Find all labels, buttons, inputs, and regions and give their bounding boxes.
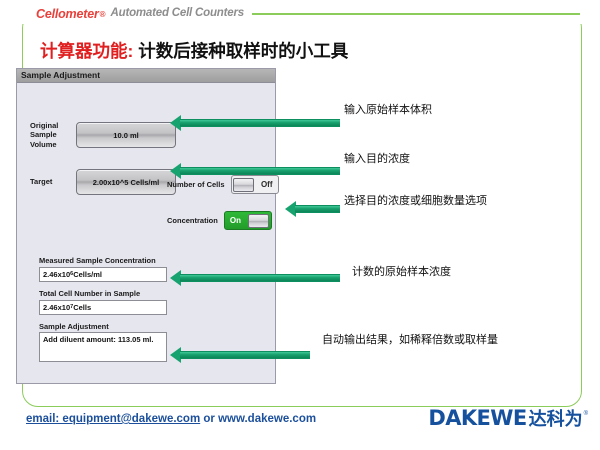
window-body: OriginalSampleVolume 10.0 ml Target 2.00… [17, 83, 275, 383]
original-sample-volume-row: OriginalSampleVolume 10.0 ml [30, 121, 176, 149]
number-of-cells-label: Number of Cells [167, 180, 225, 189]
callout-arrow-volume [170, 118, 340, 127]
number-of-cells-toggle[interactable]: Off [231, 175, 279, 194]
arrow-shaft [180, 274, 340, 282]
total-cell-number-unit: Cells [73, 303, 91, 312]
concentration-toggle-state: On [225, 217, 246, 225]
footer-separator: or [200, 413, 218, 425]
concentration-label: Concentration [167, 216, 218, 225]
logo-registered-trademark-icon: ® [584, 411, 588, 417]
measured-concentration-mantissa: 2.46x10 [43, 270, 70, 279]
arrow-shaft [180, 119, 340, 127]
measured-concentration-unit: Cells/ml [73, 270, 102, 279]
arrow-shaft [180, 351, 310, 359]
callout-arrow-measured [170, 273, 340, 282]
original-sample-volume-label: OriginalSampleVolume [30, 121, 76, 149]
number-of-cells-toggle-state: Off [256, 181, 278, 189]
target-row: Target 2.00x10^5 Cells/ml [30, 169, 176, 195]
measured-concentration-value: 2.46x106 Cells/ml [39, 267, 167, 282]
target-label: Target [30, 177, 76, 186]
page-title-rest: 计数后接种取样时的小工具 [138, 41, 348, 61]
sample-adjustment-window: Sample Adjustment OriginalSampleVolume 1… [16, 68, 276, 384]
header-divider-line [252, 13, 580, 15]
dakewe-logo: DAKEWE 达科为 ® [428, 408, 588, 429]
measured-concentration-label: Measured Sample Concentration [39, 257, 167, 265]
window-titlebar: Sample Adjustment [17, 69, 275, 83]
page-title-highlight: 计算器功能: [40, 41, 133, 61]
annotation-volume: 输入原始样本体积 [344, 103, 432, 118]
arrow-shaft [180, 167, 340, 175]
window-title: Sample Adjustment [21, 71, 100, 80]
arrow-shaft [295, 205, 340, 213]
toggle-knob-icon [248, 214, 269, 228]
number-of-cells-row: Number of Cells Off [167, 175, 279, 194]
sample-adjustment-result-value: Add diluent amount: 113.05 ml. [39, 332, 167, 362]
brand-tagline: Automated Cell Counters [111, 8, 244, 20]
callout-arrow-adjustment [170, 350, 310, 359]
footer-contact: email: equipment@dakewe.com or www.dakew… [26, 414, 316, 426]
annotation-measured: 计数的原始样本浓度 [352, 265, 451, 280]
original-sample-volume-button[interactable]: 10.0 ml [76, 122, 176, 148]
dakewe-logo-cjk: 达科为 [529, 410, 583, 428]
callout-arrow-concentration [285, 204, 340, 213]
toggle-knob-icon [233, 178, 254, 192]
target-value-button[interactable]: 2.00x10^5 Cells/ml [76, 169, 176, 195]
dakewe-logo-latin: DAKEWE [428, 408, 526, 429]
annotation-adjustment: 自动输出结果，如稀释倍数或取样量 [322, 333, 547, 348]
footer-website-link[interactable]: www.dakewe.com [218, 413, 316, 425]
annotation-target: 输入目的浓度 [344, 152, 410, 167]
page-title: 计算器功能: 计数后接种取样时的小工具 [40, 38, 348, 63]
registered-trademark-icon: ® [100, 10, 106, 19]
sample-adjustment-result-label: Sample Adjustment [39, 323, 167, 331]
callout-arrow-target [170, 166, 340, 175]
total-cell-number-value: 2.46x107 Cells [39, 300, 167, 315]
total-cell-number-mantissa: 2.46x10 [43, 303, 70, 312]
brand-name: Cellometer [36, 8, 99, 21]
total-cell-number-label: Total Cell Number in Sample [39, 290, 167, 298]
readout-group: Measured Sample Concentration 2.46x106 C… [39, 257, 167, 370]
concentration-toggle[interactable]: On [224, 211, 272, 230]
annotation-concentration: 选择目的浓度或细胞数量选项 [344, 194, 549, 209]
concentration-row: Concentration On [167, 211, 272, 230]
footer-email-link[interactable]: email: equipment@dakewe.com [26, 413, 200, 425]
brand-header: Cellometer ® Automated Cell Counters [22, 4, 582, 24]
